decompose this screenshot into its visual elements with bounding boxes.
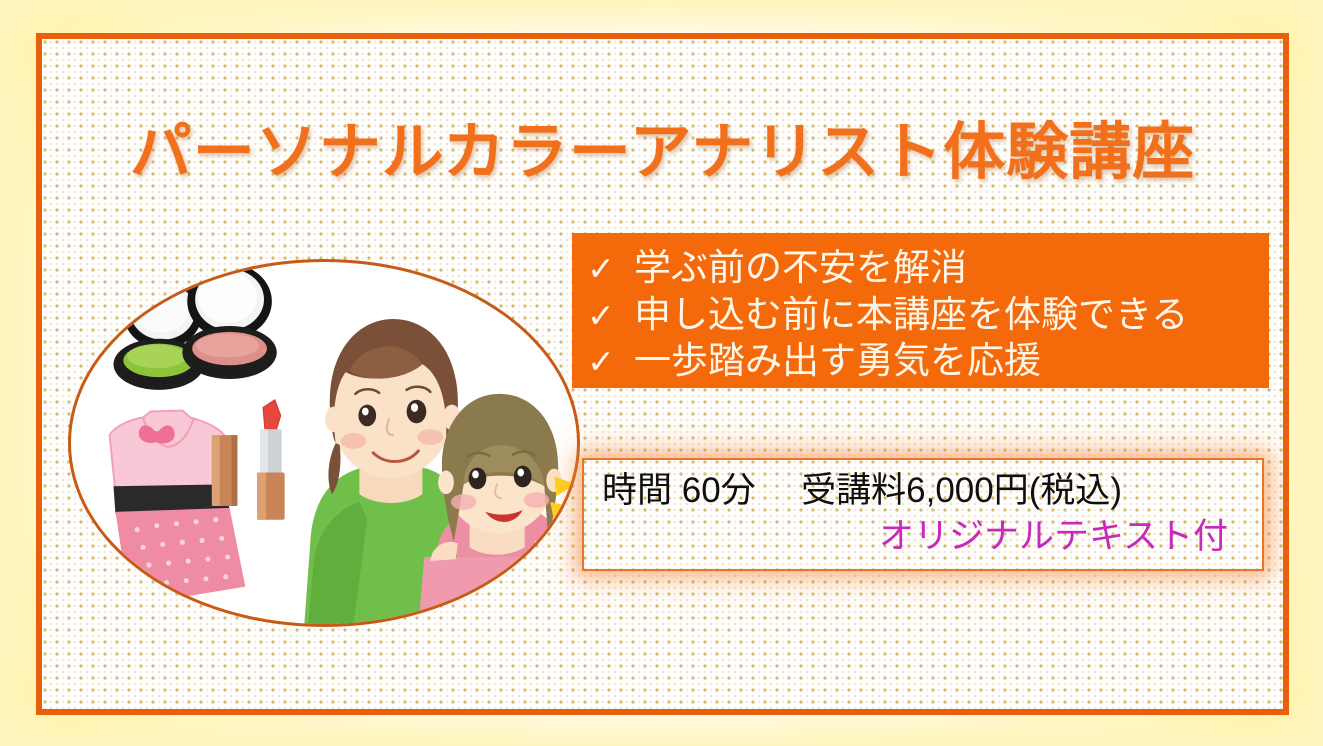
lipstick-closed-icon <box>212 435 238 506</box>
benefits-panel: ✓ 学ぶ前の不安を解消 ✓ 申し込む前に本講座を体験できる ✓ 一歩踏み出す勇気… <box>572 233 1269 388</box>
pink-blush-compact-icon <box>182 264 276 379</box>
check-icon: ✓ <box>586 252 616 285</box>
duration-label: 時間 <box>602 471 672 510</box>
lipstick-icon <box>257 400 285 520</box>
illustration-oval-frame <box>68 259 580 627</box>
info-primary-line: 時間 60分 受講料6,000円(税込) <box>602 470 1244 513</box>
info-box: 時間 60分 受講料6,000円(税込) オリジナルテキスト付 <box>582 458 1264 571</box>
benefit-item-1: ✓ 学ぶ前の不安を解消 <box>586 245 1269 292</box>
duration-value: 60分 <box>682 471 756 510</box>
benefit-label-3: 一歩踏み出す勇気を応援 <box>634 338 1041 385</box>
benefit-label-2: 申し込む前に本講座を体験できる <box>634 292 1188 339</box>
fee-text: 受講料6,000円(税込) <box>801 471 1122 510</box>
color-analysis-illustration <box>71 262 577 624</box>
benefit-item-2: ✓ 申し込む前に本講座を体験できる <box>586 292 1269 339</box>
check-icon: ✓ <box>586 345 616 378</box>
bonus-text: オリジナルテキスト付 <box>602 516 1244 559</box>
benefit-item-3: ✓ 一歩踏み出す勇気を応援 <box>586 338 1269 385</box>
check-icon: ✓ <box>586 299 616 332</box>
page-title: パーソナルカラーアナリスト体験講座 <box>42 101 1283 191</box>
slide-canvas: パーソナルカラーアナリスト体験講座 <box>0 0 1323 746</box>
illustration-area <box>68 259 580 627</box>
content-frame: パーソナルカラーアナリスト体験講座 <box>36 33 1289 715</box>
benefit-label-1: 学ぶ前の不安を解消 <box>634 245 967 292</box>
